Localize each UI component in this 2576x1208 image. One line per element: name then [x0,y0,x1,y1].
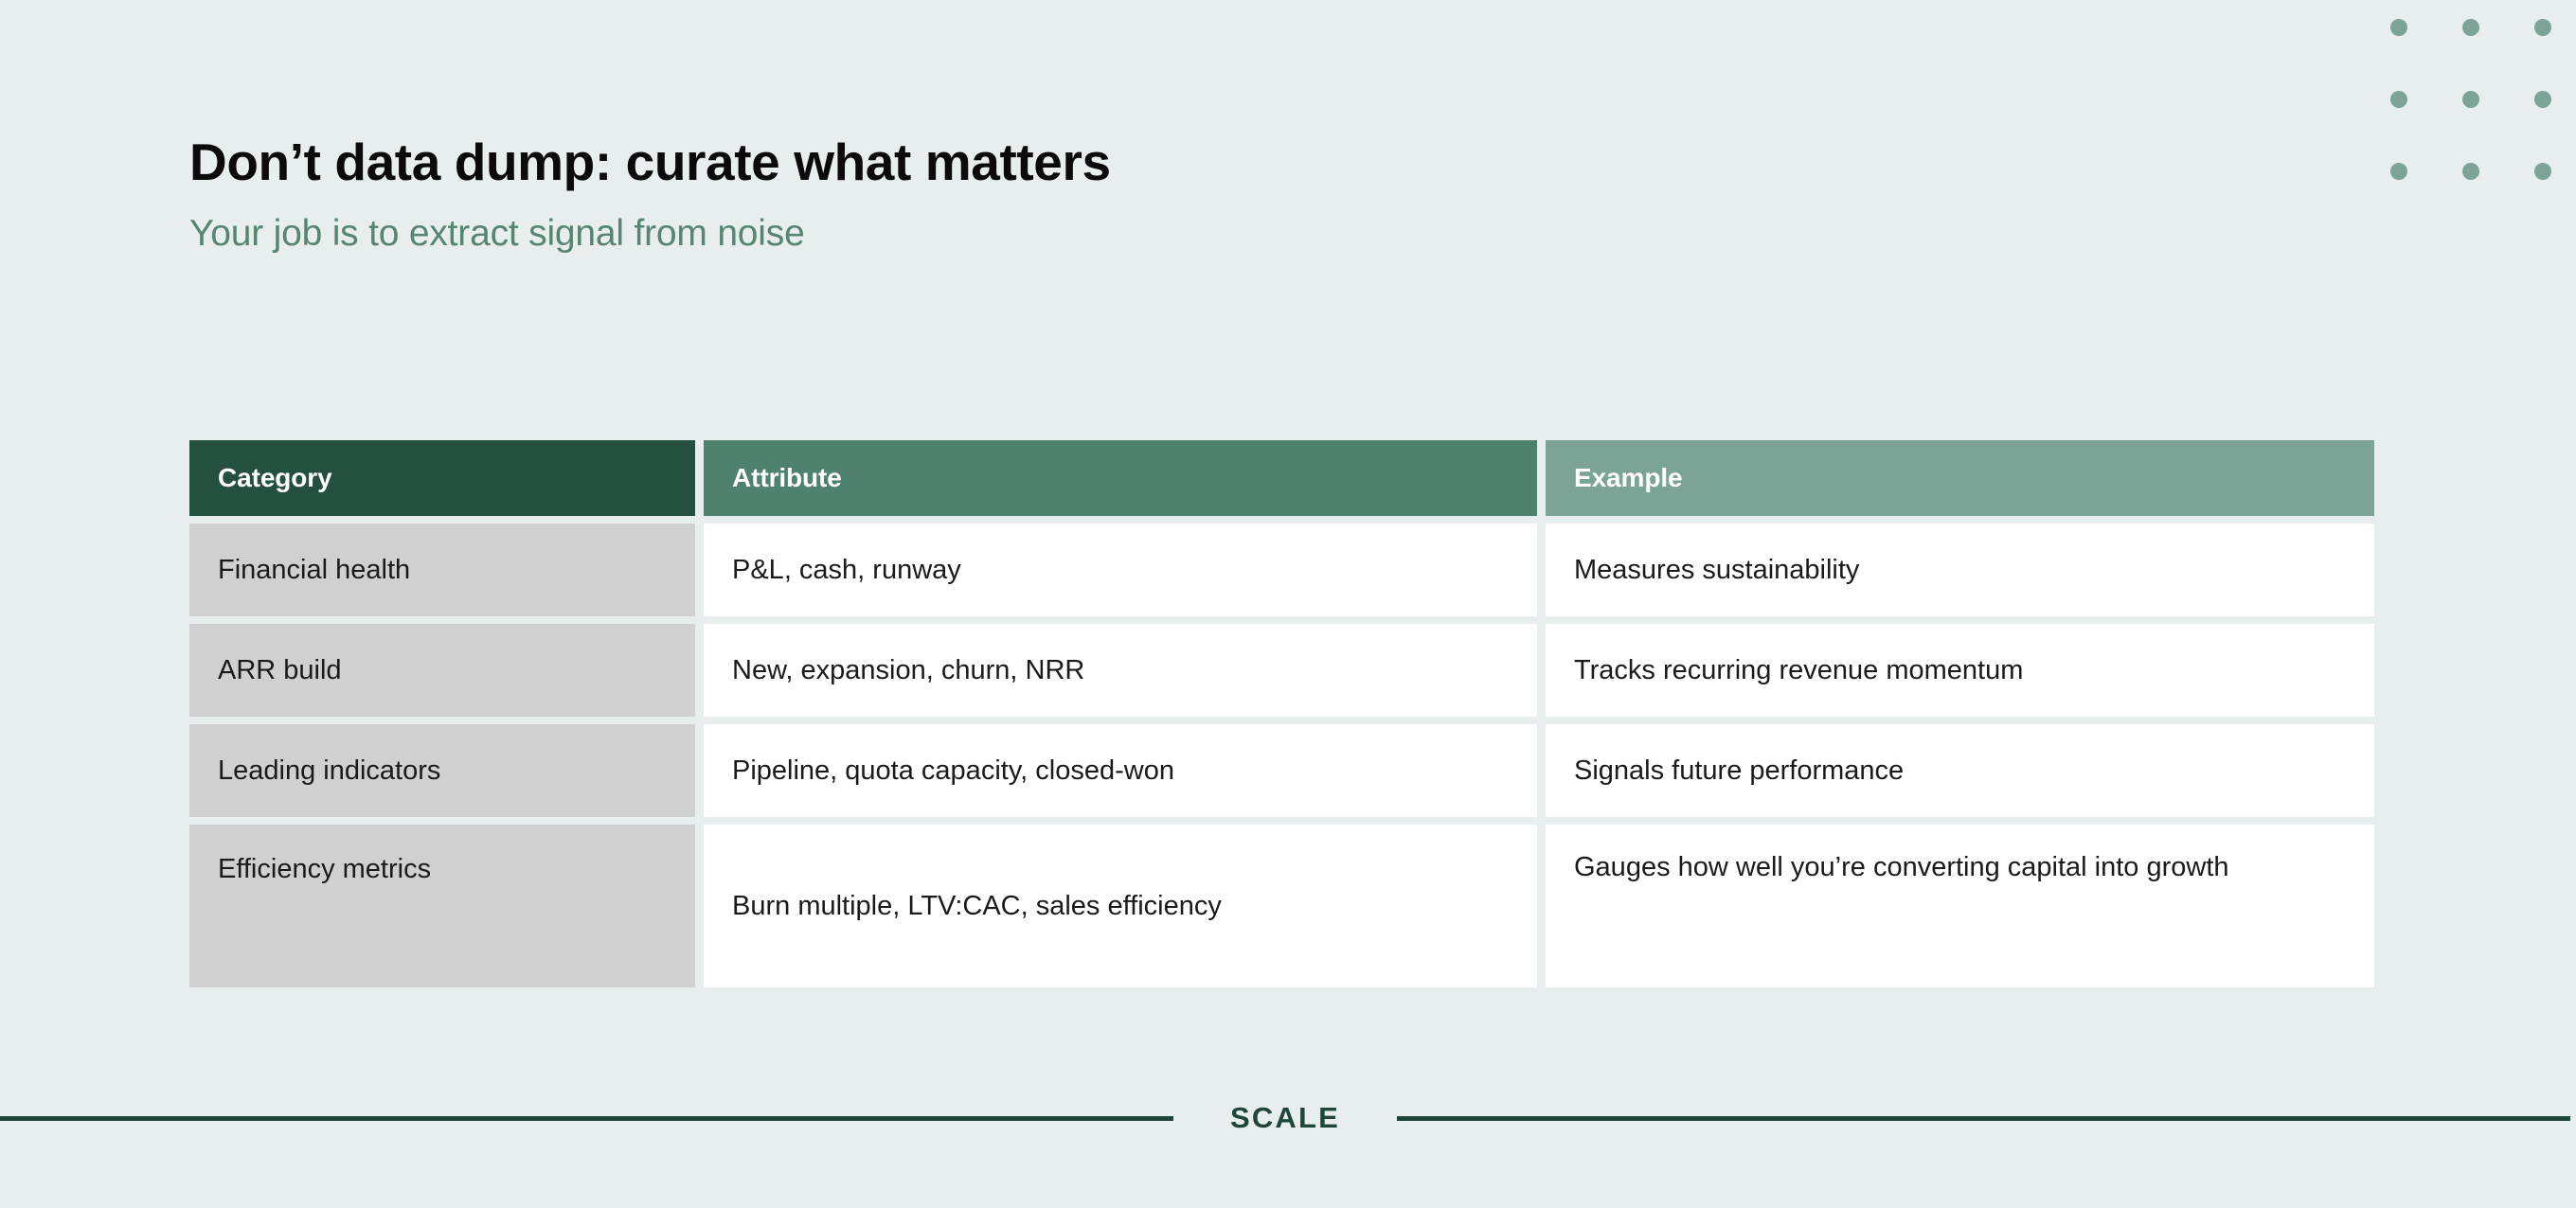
decorative-dot-grid [2390,19,2551,180]
footer-brand-label: SCALE [1230,1101,1340,1135]
table-row: Financial health P&L, cash, runway Measu… [189,524,2374,616]
table-row: Efficiency metrics Burn multiple, LTV:CA… [189,825,2374,987]
cell-example: Gauges how well you’re converting capita… [1546,825,2374,987]
cell-category: Efficiency metrics [189,825,695,987]
table-header: Category Attribute Example [189,440,2374,516]
cell-category: Financial health [189,524,695,616]
column-header-example: Example [1546,440,2374,516]
cell-category: Leading indicators [189,724,695,817]
footer-rule-right [1397,1116,2570,1121]
cell-example: Measures sustainability [1546,524,2374,616]
dot-icon [2534,91,2551,108]
dot-icon [2390,19,2407,36]
cell-attribute: Burn multiple, LTV:CAC, sales efficiency [704,825,1537,987]
cell-attribute: P&L, cash, runway [704,524,1537,616]
dot-icon [2462,91,2479,108]
column-header-attribute: Attribute [704,440,1537,516]
dot-icon [2390,91,2407,108]
cell-category: ARR build [189,624,695,717]
dot-icon [2462,163,2479,180]
dot-icon [2534,19,2551,36]
column-header-category: Category [189,440,695,516]
content-table: Category Attribute Example Financial hea… [181,433,2383,995]
table-row: Leading indicators Pipeline, quota capac… [189,724,2374,817]
dot-icon [2462,19,2479,36]
table-row: ARR build New, expansion, churn, NRR Tra… [189,624,2374,717]
cell-attribute: Pipeline, quota capacity, closed-won [704,724,1537,817]
heading-block: Don’t data dump: curate what matters You… [189,134,1111,255]
cell-example: Signals future performance [1546,724,2374,817]
dot-icon [2390,163,2407,180]
table-body: Financial health P&L, cash, runway Measu… [189,524,2374,987]
dot-icon [2534,163,2551,180]
cell-example: Tracks recurring revenue momentum [1546,624,2374,717]
footer: SCALE [0,1101,2576,1135]
page-title: Don’t data dump: curate what matters [189,134,1111,189]
table-header-row: Category Attribute Example [189,440,2374,516]
page-subtitle: Your job is to extract signal from noise [189,214,1111,255]
content-table-container: Category Attribute Example Financial hea… [189,440,2357,987]
footer-rule-left [0,1116,1173,1121]
cell-attribute: New, expansion, churn, NRR [704,624,1537,717]
